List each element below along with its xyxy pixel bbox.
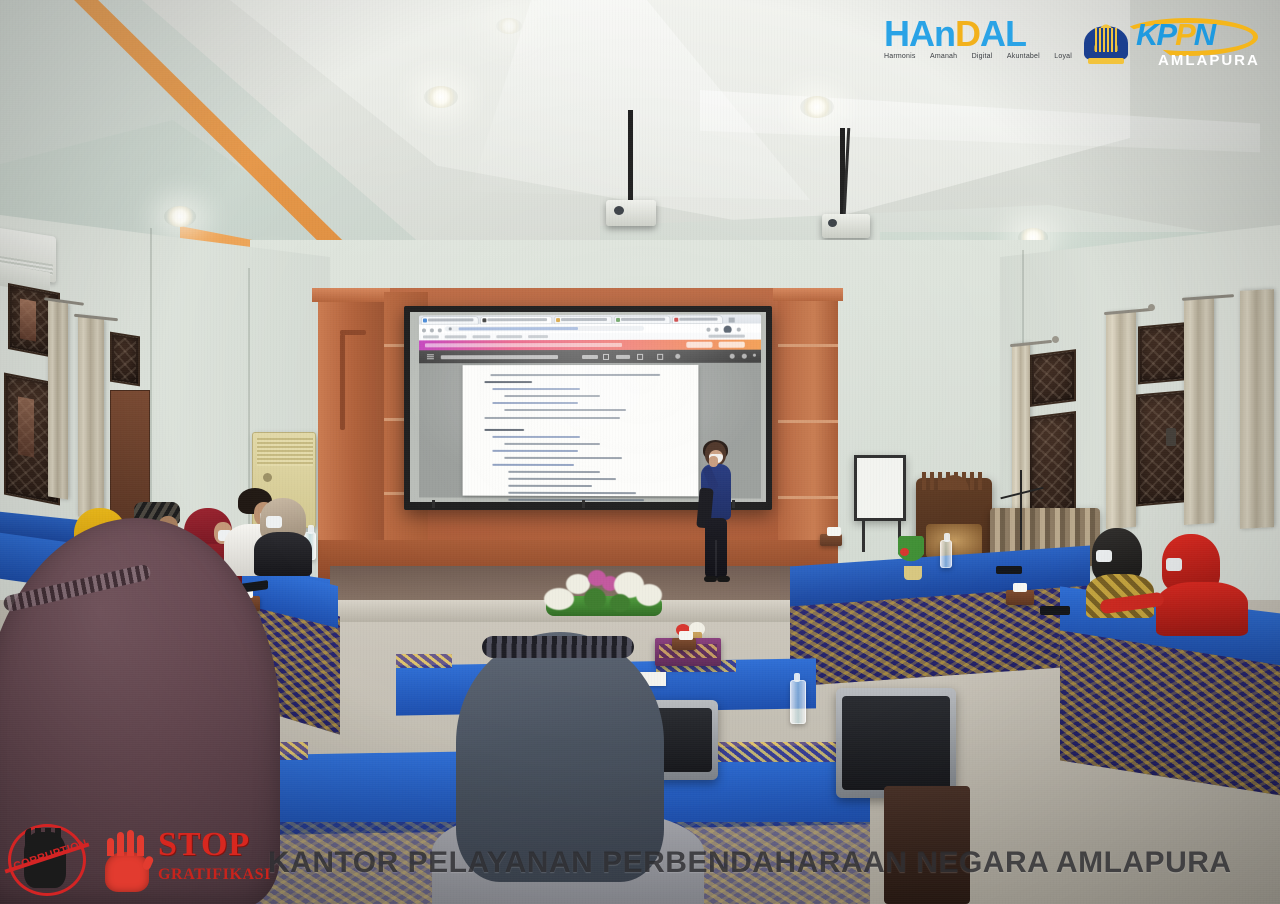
handal-wordmark: HAnDAL	[884, 16, 1074, 52]
attendee-beige-hijab	[250, 498, 312, 572]
curtain-rod-finial	[1148, 304, 1155, 311]
hijab	[456, 632, 664, 882]
tab-title	[679, 318, 717, 321]
presenter	[692, 442, 738, 590]
browser-menu-icon[interactable]	[737, 328, 741, 332]
curtain	[78, 316, 104, 519]
tab-favicon-icon	[423, 319, 427, 323]
ceiling-projector-mount	[628, 110, 633, 202]
tagline-digital: Digital	[972, 53, 993, 60]
slide-line	[508, 492, 636, 494]
handal-logo: HAnDAL Harmonis Amanah Digital Akuntabel…	[884, 16, 1074, 70]
smartphone	[996, 566, 1022, 574]
browser-tab-active[interactable]	[480, 316, 552, 324]
tab-favicon-icon	[674, 318, 678, 322]
bookmark-item[interactable]	[496, 335, 522, 338]
sync-status-label	[708, 335, 744, 338]
download-icon[interactable]	[742, 354, 747, 359]
bookmark-item[interactable]	[472, 335, 490, 338]
microphone-stand	[1020, 470, 1022, 550]
curtain	[1106, 311, 1136, 530]
back-icon[interactable]	[422, 328, 426, 332]
bookmark-item[interactable]	[445, 335, 467, 338]
reload-icon[interactable]	[438, 328, 442, 332]
slide-line	[490, 374, 660, 376]
presenter-hand	[709, 456, 718, 467]
more-options-icon[interactable]	[753, 354, 756, 357]
slide-bullet	[492, 450, 578, 452]
slide-heading	[484, 381, 532, 383]
bookmark-item[interactable]	[528, 335, 548, 338]
hand-sanitizer-bottle	[790, 680, 806, 724]
kppn-wordmark: KPPN	[1136, 18, 1214, 51]
presenter-shoe	[717, 576, 730, 582]
slide-bullet	[492, 436, 580, 438]
curtain	[1184, 297, 1214, 525]
address-bar-value	[459, 327, 578, 330]
stage-column-left	[318, 288, 384, 578]
document-app-title	[441, 355, 558, 359]
light-switch[interactable]	[1166, 428, 1176, 446]
bookmark-item[interactable]	[423, 335, 439, 338]
presenter-shoe	[704, 576, 717, 582]
stop-label: STOP	[158, 828, 250, 862]
forward-icon[interactable]	[430, 328, 434, 332]
lock-icon	[449, 327, 452, 330]
tagline-loyal: Loyal	[1054, 53, 1072, 60]
attendee-red-hijab	[1156, 534, 1248, 628]
smartphone	[1040, 606, 1070, 615]
zoom-out-icon[interactable]	[603, 354, 609, 360]
plant-flower	[900, 548, 909, 556]
tab-favicon-icon	[482, 318, 486, 322]
kppn-logo: KPPN AMLAPURA	[1082, 16, 1258, 78]
whiteboard	[854, 455, 906, 521]
tagline-harmonis: Harmonis	[884, 53, 916, 60]
bookmark-star-icon[interactable]	[715, 328, 719, 332]
banner-dismiss-button[interactable]	[686, 342, 712, 348]
slide-line	[504, 457, 622, 459]
banner-confirm-button[interactable]	[719, 342, 745, 348]
tissue-box	[820, 534, 842, 546]
handal-part-l: L	[1005, 13, 1026, 54]
face-mask-icon	[266, 516, 282, 528]
curtain	[1240, 289, 1274, 529]
tagline-amanah: Amanah	[930, 53, 957, 60]
photo-canvas: HAnDAL Harmonis Amanah Digital Akuntabel…	[0, 0, 1280, 904]
gratifikasi-label: GRATIFIKASI	[158, 866, 271, 884]
projector-lens	[828, 219, 837, 227]
hand-sanitizer-bottle	[940, 540, 952, 568]
browser-tab[interactable]	[614, 316, 670, 324]
handal-part-d: D	[955, 13, 980, 54]
attendee-body	[254, 532, 312, 576]
tissue-box	[1006, 590, 1034, 605]
presenter-legs	[705, 518, 727, 578]
face-mask-icon	[1166, 558, 1182, 571]
document-viewer-toolbar	[419, 350, 761, 364]
document-page	[463, 365, 699, 497]
anti-corruption-badge: CORRUPTION	[6, 822, 88, 898]
kppn-branch-label: AMLAPURA	[1158, 52, 1260, 69]
new-tab-button[interactable]	[729, 318, 735, 323]
slide-line	[504, 395, 600, 397]
ceiling-downlight	[496, 18, 522, 34]
ceiling-downlight	[424, 86, 458, 108]
slide-bullet	[492, 464, 574, 466]
browser-tab[interactable]	[672, 316, 722, 324]
slide-note	[484, 417, 620, 419]
hijab-bead-trim	[482, 636, 634, 658]
print-icon[interactable]	[730, 354, 735, 359]
handal-part-n: n	[934, 13, 955, 54]
notification-banner	[419, 340, 761, 351]
attendee-body	[1156, 582, 1248, 636]
tab-favicon-icon	[616, 318, 620, 322]
ceiling-downlight	[164, 206, 196, 227]
plant-pot	[904, 566, 922, 580]
handal-part-a: A	[980, 13, 1005, 54]
slide-line	[504, 443, 600, 445]
stop-gratifikasi-badge: STOP GRATIFIKASI	[100, 826, 280, 898]
chair[interactable]	[836, 688, 956, 798]
hamburger-icon[interactable]	[427, 354, 434, 360]
page-indicator	[582, 355, 598, 359]
projector-lens	[614, 206, 624, 215]
ministry-of-finance-seal-icon	[1084, 20, 1128, 66]
tab-title	[428, 318, 474, 321]
whiteboard-leg	[862, 520, 865, 552]
window-light	[18, 396, 34, 457]
slide-bullet	[492, 388, 580, 390]
handal-part-ha: HA	[884, 13, 934, 54]
window	[110, 332, 140, 387]
ceiling-downlight	[800, 96, 834, 118]
curtain-rod-finial	[1052, 336, 1059, 343]
ceiling-projector	[606, 200, 656, 226]
wall-seam	[150, 228, 152, 528]
slide-line	[508, 485, 592, 487]
tab-title	[487, 318, 547, 321]
slide-line	[508, 478, 616, 480]
venue-banner-text: KANTOR PELAYANAN PERBENDAHARAAN NEGARA A…	[268, 846, 1232, 880]
slide-heading	[484, 429, 524, 431]
fullscreen-icon[interactable]	[675, 354, 680, 359]
window-light	[20, 298, 36, 341]
zoom-in-icon[interactable]	[637, 354, 643, 360]
chair-back[interactable]	[884, 786, 970, 904]
notification-banner-text	[425, 343, 622, 347]
tab-favicon-icon	[556, 318, 560, 322]
zoom-level-label	[616, 355, 630, 359]
tab-title	[561, 318, 607, 321]
browser-tab[interactable]	[421, 316, 478, 324]
tagline-akuntabel: Akuntabel	[1007, 53, 1040, 60]
slide-line	[508, 471, 600, 473]
window	[1030, 349, 1076, 407]
handal-tagline: Harmonis Amanah Digital Akuntabel Loyal	[884, 53, 1072, 60]
face-mask-icon	[1096, 550, 1112, 562]
browser-tab[interactable]	[554, 316, 612, 324]
slide-line	[504, 409, 626, 411]
red-hand-icon	[100, 830, 154, 892]
fit-page-icon[interactable]	[658, 354, 664, 360]
slide-bullet	[492, 402, 578, 404]
flower-arrangement	[540, 566, 670, 618]
tab-title	[621, 318, 665, 321]
curtain	[48, 300, 68, 499]
extensions-icon[interactable]	[706, 328, 710, 332]
